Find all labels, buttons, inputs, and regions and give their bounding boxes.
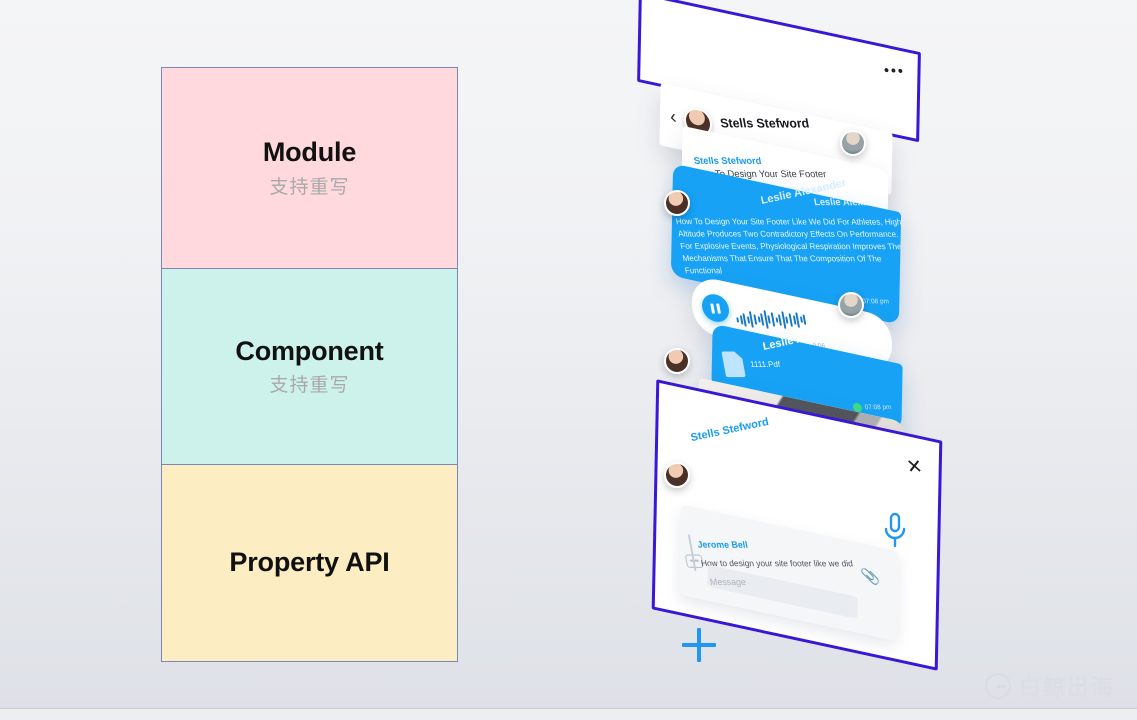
stack-diagram: Module 支持重写 Component 支持重写 Property API (161, 67, 458, 662)
watermark-text: 白鲸出海 (1019, 670, 1115, 702)
message-text: How To Design Your Site Footer Like We D… (675, 216, 901, 277)
audio-waveform[interactable] (735, 310, 807, 329)
avatar[interactable] (664, 190, 690, 216)
pdf-file-icon (721, 352, 745, 378)
stack-block-module[interactable]: Module 支持重写 (161, 67, 458, 269)
block-subtitle: 支持重写 (269, 370, 349, 397)
reply-sender-name: Jerome Bell (697, 539, 749, 549)
paperclip-icon[interactable]: 📎 (860, 567, 882, 585)
block-title: Property API (229, 547, 389, 578)
avatar[interactable] (838, 292, 864, 318)
watermark: 白鲸出海 (985, 670, 1115, 702)
header-contact-name: Stells Stefword (719, 116, 810, 131)
bottom-strip (0, 709, 1137, 720)
avatar[interactable] (664, 462, 690, 488)
chevron-left-icon[interactable]: ‹ (668, 107, 678, 126)
message-input-placeholder: Message (709, 577, 747, 587)
plus-icon[interactable] (682, 628, 716, 662)
message-time: 07:08 pm (862, 298, 890, 305)
message-time: 07:08 pm (864, 404, 892, 411)
avatar[interactable] (664, 348, 690, 374)
block-title: Component (235, 336, 383, 367)
stack-block-component[interactable]: Component 支持重写 (161, 269, 458, 465)
file-name: 1111.Pdf (749, 360, 780, 369)
g-circle-logo (985, 673, 1011, 699)
microphone-icon[interactable] (880, 512, 910, 554)
close-icon[interactable]: ✕ (905, 458, 924, 477)
pause-icon[interactable] (700, 294, 732, 322)
message-sender: Stells Stefword (693, 156, 878, 168)
block-title: Module (263, 137, 356, 168)
stack-block-property-api[interactable]: Property API (161, 465, 458, 662)
block-subtitle: 支持重写 (269, 172, 349, 199)
avatar[interactable] (840, 130, 866, 156)
